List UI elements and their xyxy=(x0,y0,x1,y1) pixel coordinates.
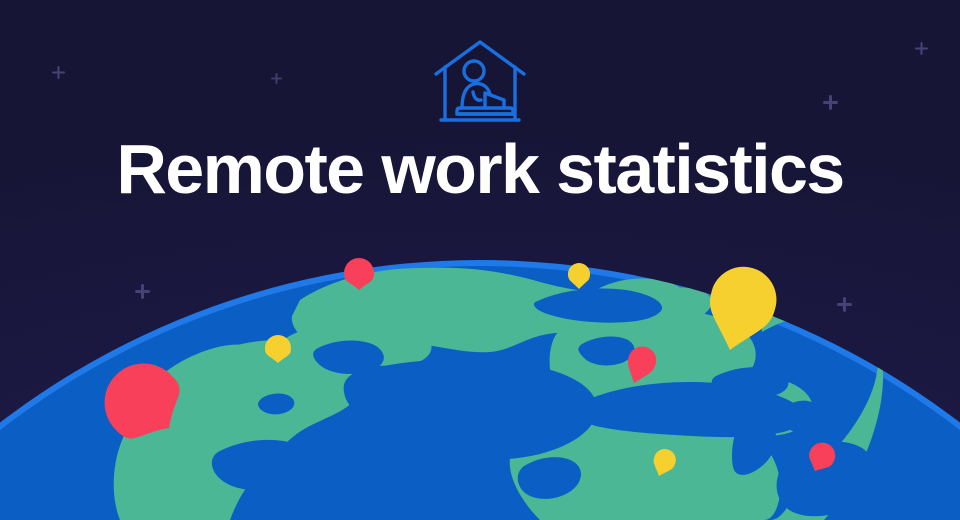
person-head xyxy=(464,61,484,81)
remote-work-statistics-banner: Remote work statistics xyxy=(0,0,960,520)
page-title: Remote work statistics xyxy=(0,134,960,204)
person-arm xyxy=(473,92,481,100)
house-roof xyxy=(436,42,524,74)
laptop-screen xyxy=(485,93,504,108)
remote-work-house-icon xyxy=(0,38,960,124)
